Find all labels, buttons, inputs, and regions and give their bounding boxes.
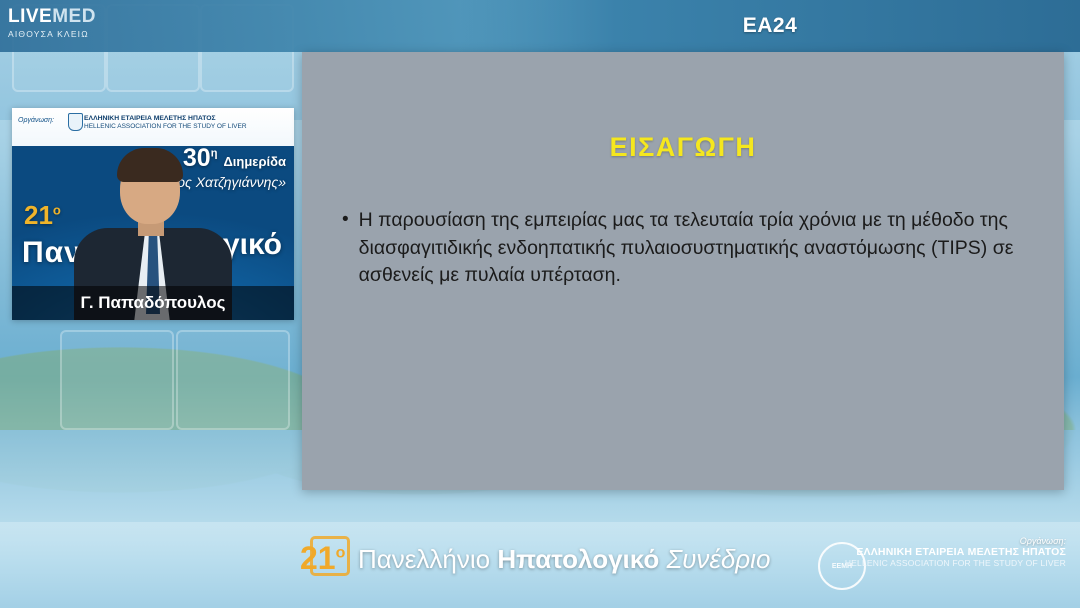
slide-bullet-text: Η παρουσίαση της εμπειρίας μας τα τελευτ… bbox=[359, 207, 1014, 290]
slide-bullet: • Η παρουσίαση της εμπειρίας μας τα τελε… bbox=[342, 207, 1014, 290]
logo-live-text: LIVE bbox=[8, 6, 52, 27]
footer-content: 21ο Πανελλήνιο Ηπατολογικό Συνέδριο ΕΕΜΗ… bbox=[0, 522, 1080, 608]
slide-title: ΕΙΣΑΓΩΓΗ bbox=[302, 132, 1064, 163]
puzzle-piece-decor bbox=[60, 330, 174, 430]
stage-banner-association-gr: ΕΛΛΗΝΙΚΗ ΕΤΑΙΡΕΙΑ ΜΕΛΕΤΗΣ ΗΠΑΤΟΣ bbox=[84, 114, 247, 123]
association-shield-icon bbox=[68, 113, 83, 131]
logo-med-text: MED bbox=[52, 6, 96, 27]
stage-banner-org-label: Οργάνωση: bbox=[18, 117, 54, 124]
stage-congress-number: 21ο bbox=[24, 200, 61, 231]
footer-organizer-name-gr: ΕΛΛΗΝΙΚΗ ΕΤΑΙΡΕΙΑ ΜΕΛΕΤΗΣ ΗΠΑΤΟΣ bbox=[845, 546, 1066, 558]
footer-organizer-name-en: HELLENIC ASSOCIATION FOR THE STUDY OF LI… bbox=[845, 558, 1066, 568]
livemed-logo: LIVEMED ΑΙΘΟΥΣΑ ΚΛΕΙΩ bbox=[8, 6, 188, 40]
speaker-name: Γ. Παπαδόπουλος bbox=[80, 293, 225, 313]
footer-organizer-label: Οργάνωση: bbox=[845, 536, 1066, 546]
speaker-hair bbox=[117, 148, 183, 182]
footer-bar: 21ο Πανελλήνιο Ηπατολογικό Συνέδριο ΕΕΜΗ… bbox=[0, 522, 1080, 608]
footer-organizer: Οργάνωση: ΕΛΛΗΝΙΚΗ ΕΤΑΙΡΕΙΑ ΜΕΛΕΤΗΣ ΗΠΑΤ… bbox=[845, 536, 1066, 568]
speaker-name-bar: Γ. Παπαδόπουλος bbox=[12, 286, 294, 320]
footer-congress-number-sup: ο bbox=[336, 544, 346, 561]
presentation-slide[interactable]: ΕΙΣΑΓΩΓΗ • Η παρουσίαση της εμπειρίας μα… bbox=[302, 52, 1064, 490]
footer-congress-number-value: 21 bbox=[300, 540, 336, 576]
stage-banner-association: ΕΛΛΗΝΙΚΗ ΕΤΑΙΡΕΙΑ ΜΕΛΕΤΗΣ ΗΠΑΤΟΣ HELLENI… bbox=[84, 114, 247, 132]
footer-word-1: Πανελλήνιο bbox=[358, 544, 490, 574]
slide-body: • Η παρουσίαση της εμπειρίας μας τα τελε… bbox=[342, 207, 1014, 290]
puzzle-piece-decor bbox=[176, 330, 290, 430]
stage-banner-association-en: HELLENIC ASSOCIATION FOR THE STUDY OF LI… bbox=[84, 123, 247, 130]
footer-word-2: Ηπατολογικό bbox=[497, 544, 659, 574]
footer-word-3: Συνέδριο bbox=[667, 544, 771, 574]
footer-congress-title: Πανελλήνιο Ηπατολογικό Συνέδριο bbox=[358, 544, 770, 575]
bullet-marker-icon: • bbox=[342, 207, 349, 234]
room-label: ΑΙΘΟΥΣΑ ΚΛΕΙΩ bbox=[8, 29, 188, 39]
stage-congress-number-value: 21 bbox=[24, 200, 53, 230]
broadcast-stage: EA24 LIVEMED ΑΙΘΟΥΣΑ ΚΛΕΙΩ Οργάνωση: ΕΛΛ… bbox=[0, 0, 1080, 608]
footer-congress-number: 21ο bbox=[300, 540, 345, 577]
